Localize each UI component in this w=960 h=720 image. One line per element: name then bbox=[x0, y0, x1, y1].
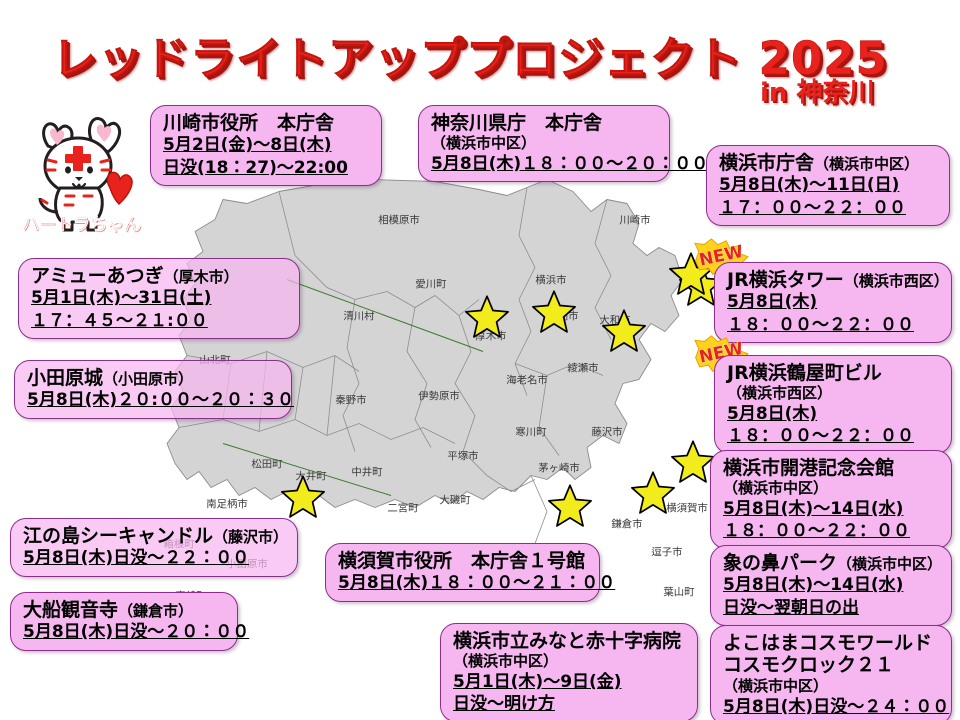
svg-text:綾瀬市: 綾瀬市 bbox=[567, 362, 598, 375]
venue-ward: （小田原市） bbox=[103, 370, 193, 388]
venue-date-1: 5月1日(木)～31日(土) bbox=[31, 287, 289, 309]
venue-card-enoshima-sea-candle[interactable]: 江の島シーキャンドル（藤沢市） 5月8日(木)日没～２２：００ bbox=[10, 518, 298, 577]
svg-text:松田町: 松田町 bbox=[251, 458, 283, 471]
venue-date-2: １７：００～２２：００ bbox=[719, 197, 939, 219]
page-subtitle: in 神奈川 bbox=[760, 72, 874, 109]
svg-text:相模原市: 相模原市 bbox=[378, 214, 420, 227]
svg-text:愛川町: 愛川町 bbox=[415, 278, 447, 291]
venue-ward: （横浜市西区） bbox=[844, 272, 949, 290]
venue-date-1: 5月8日(木)日没～２４：００ bbox=[723, 696, 941, 718]
venue-name: 象の鼻パーク（横浜市中区） bbox=[723, 552, 941, 574]
venue-name: 横浜市庁舎（横浜市中区） bbox=[719, 152, 939, 174]
venue-date-1: 5月1日(木)～9日(金) bbox=[453, 671, 687, 693]
svg-text:鎌倉市: 鎌倉市 bbox=[611, 518, 642, 531]
svg-text:横浜市: 横浜市 bbox=[535, 274, 566, 287]
venue-card-kanagawa-pref-office[interactable]: 神奈川県庁 本庁舎 （横浜市中区） 5月8日(木)１８：００～２０：００ bbox=[418, 105, 670, 182]
title-block: レッドライトアッププロジェクト 2025 in 神奈川 bbox=[0, 0, 960, 104]
venue-name: 川崎市役所 本庁舎 bbox=[163, 112, 371, 134]
svg-text:伊勢原市: 伊勢原市 bbox=[418, 390, 460, 403]
venue-ward: （横浜市中区） bbox=[453, 652, 687, 671]
venue-date-1: 5月8日(木)１８：００～２０：００ bbox=[431, 153, 659, 175]
venue-date-1: 5月8日(木) bbox=[727, 291, 941, 313]
svg-text:秦野市: 秦野市 bbox=[335, 394, 366, 407]
venue-date-1: 5月8日(木)１８：００～２１：００ bbox=[338, 572, 589, 594]
svg-text:南足柄市: 南足柄市 bbox=[206, 498, 248, 511]
venue-date-2: 日没(18：27)～22:00 bbox=[163, 157, 371, 179]
venue-ward: （横浜市中区） bbox=[431, 134, 659, 153]
venue-name-text: 象の鼻パーク bbox=[723, 552, 837, 574]
venue-name-line2: コスモクロック２１ bbox=[723, 654, 941, 676]
venue-name: 小田原城（小田原市） bbox=[27, 367, 281, 389]
venue-name: 江の島シーキャンドル（藤沢市） bbox=[23, 525, 287, 547]
venue-name: 横須賀市役所 本庁舎１号館 bbox=[338, 550, 589, 572]
venue-date-2: １８：００～２２：００ bbox=[727, 314, 941, 336]
svg-text:厚木市: 厚木市 bbox=[475, 330, 506, 343]
svg-text:平塚市: 平塚市 bbox=[447, 450, 478, 463]
venue-card-kawasaki-city-hall[interactable]: 川崎市役所 本庁舎 5月2日(金)～8日(木) 日没(18：27)～22:00 bbox=[150, 105, 382, 186]
venue-ward: （横浜市西区） bbox=[727, 384, 941, 403]
venue-name: アミューあつぎ（厚木市） bbox=[31, 265, 289, 287]
venue-date-2: １８：００～２２：００ bbox=[727, 425, 941, 447]
svg-text:海老名市: 海老名市 bbox=[506, 374, 548, 387]
venue-date-1: 5月8日(木)～14日(水) bbox=[723, 498, 941, 520]
poster-canvas: レッドライトアッププロジェクト 2025 in 神奈川 bbox=[0, 0, 960, 720]
venue-date-1: 5月8日(木)日没～２２：００ bbox=[23, 547, 287, 569]
venue-date-1: 5月8日(木) bbox=[727, 403, 941, 425]
venue-name-text: JR横浜タワー bbox=[727, 269, 844, 291]
venue-ward: （鎌倉市） bbox=[118, 602, 193, 620]
venue-date-1: 5月8日(木)～14日(水) bbox=[723, 574, 941, 596]
venue-name: 神奈川県庁 本庁舎 bbox=[431, 112, 659, 134]
venue-name: 横浜市立みなと赤十字病院 bbox=[453, 630, 687, 652]
venue-ward: （藤沢市） bbox=[213, 528, 288, 546]
venue-name-text: 大船観音寺 bbox=[23, 599, 118, 621]
svg-text:茅ヶ崎市: 茅ヶ崎市 bbox=[538, 462, 580, 475]
venue-card-yokohama-city-hall[interactable]: 横浜市庁舎（横浜市中区） 5月8日(木)～11日(日) １７：００～２２：００ bbox=[706, 145, 950, 226]
venue-name-text: 小田原城 bbox=[27, 367, 103, 389]
svg-text:寒川町: 寒川町 bbox=[515, 427, 547, 439]
svg-text:川崎市: 川崎市 bbox=[619, 214, 650, 227]
venue-ward: （横浜市中区） bbox=[723, 677, 941, 696]
svg-text:大和市: 大和市 bbox=[599, 314, 630, 327]
venue-card-ofuna-kannon-ji[interactable]: 大船観音寺（鎌倉市） 5月8日(木)日没～２０：００ bbox=[10, 592, 238, 651]
venue-card-yokohama-port-opening-memorial-hall[interactable]: 横浜市開港記念会館 （横浜市中区） 5月8日(木)～14日(水) １８：００～２… bbox=[710, 450, 952, 549]
venue-name: 横浜市開港記念会館 bbox=[723, 457, 941, 479]
svg-text:逗子市: 逗子市 bbox=[651, 546, 682, 559]
svg-text:大井町: 大井町 bbox=[295, 470, 327, 483]
svg-text:藤沢市: 藤沢市 bbox=[591, 426, 622, 439]
venue-date-2: １８：００～２２：００ bbox=[723, 520, 941, 542]
svg-text:座間市: 座間市 bbox=[547, 310, 578, 323]
venue-card-odawara-castle[interactable]: 小田原城（小田原市） 5月8日(木)２０:００～２０：３０ bbox=[14, 360, 292, 419]
venue-card-zou-no-hana-park[interactable]: 象の鼻パーク（横浜市中区） 5月8日(木)～14日(水) 日没～翌朝日の出 bbox=[710, 545, 952, 626]
svg-text:中井町: 中井町 bbox=[351, 466, 383, 479]
svg-text:大磯町: 大磯町 bbox=[439, 494, 471, 507]
venue-card-yokohama-cosmoworld-cosmoclock21[interactable]: よこはまコスモワールド コスモクロック２１ （横浜市中区） 5月8日(木)日没～… bbox=[710, 625, 952, 720]
venue-name-text: 江の島シーキャンドル bbox=[23, 525, 213, 547]
svg-text:清川村: 清川村 bbox=[343, 310, 375, 323]
venue-card-yokosuka-city-hall[interactable]: 横須賀市役所 本庁舎１号館 5月8日(木)１８：００～２１：００ bbox=[325, 543, 600, 602]
page-title: レッドライトアッププロジェクト 2025 bbox=[52, 22, 888, 87]
venue-card-jr-yokohama-tower[interactable]: JR横浜タワー（横浜市西区） 5月8日(木) １８：００～２２：００ bbox=[714, 262, 952, 343]
venue-name-text: 横浜市庁舎 bbox=[719, 152, 814, 174]
venue-name: 大船観音寺（鎌倉市） bbox=[23, 599, 227, 621]
venue-date-1: 5月8日(木)２０:００～２０：３０ bbox=[27, 389, 281, 411]
venue-name: よこはまコスモワールド bbox=[723, 632, 941, 654]
venue-date-1: 5月8日(木)日没～２０：００ bbox=[23, 621, 227, 643]
venue-ward: （厚木市） bbox=[164, 268, 239, 286]
venue-name: JR横浜鶴屋町ビル bbox=[727, 362, 941, 384]
venue-date-1: 5月8日(木)～11日(日) bbox=[719, 174, 939, 196]
mascot-name-label: ハートラちゃん bbox=[22, 210, 141, 235]
venue-name-text: アミューあつぎ bbox=[31, 265, 164, 287]
svg-text:二宮町: 二宮町 bbox=[387, 502, 419, 515]
venue-ward: （横浜市中区） bbox=[814, 155, 919, 173]
svg-text:横須賀市: 横須賀市 bbox=[666, 502, 708, 515]
svg-text:葉山町: 葉山町 bbox=[663, 586, 695, 599]
venue-date-2: 日没～翌朝日の出 bbox=[723, 597, 941, 619]
venue-card-amyu-atsugi[interactable]: アミューあつぎ（厚木市） 5月1日(木)～31日(土) １７：４５～２１:００ bbox=[18, 258, 300, 339]
venue-ward: （横浜市中区） bbox=[723, 479, 941, 498]
venue-date-2: 日没～明け方 bbox=[453, 693, 687, 715]
venue-name: JR横浜タワー（横浜市西区） bbox=[727, 269, 941, 291]
venue-date-2: １７：４５～２１:００ bbox=[31, 310, 289, 332]
venue-card-yokohama-minato-red-cross-hospital[interactable]: 横浜市立みなと赤十字病院 （横浜市中区） 5月1日(木)～9日(金) 日没～明け… bbox=[440, 623, 698, 720]
venue-card-jr-yokohama-tsuruyacho-building[interactable]: JR横浜鶴屋町ビル （横浜市西区） 5月8日(木) １８：００～２２：００ bbox=[714, 355, 952, 454]
venue-ward: （横浜市中区） bbox=[837, 555, 942, 573]
venue-date-1: 5月2日(金)～8日(木) bbox=[163, 134, 371, 156]
